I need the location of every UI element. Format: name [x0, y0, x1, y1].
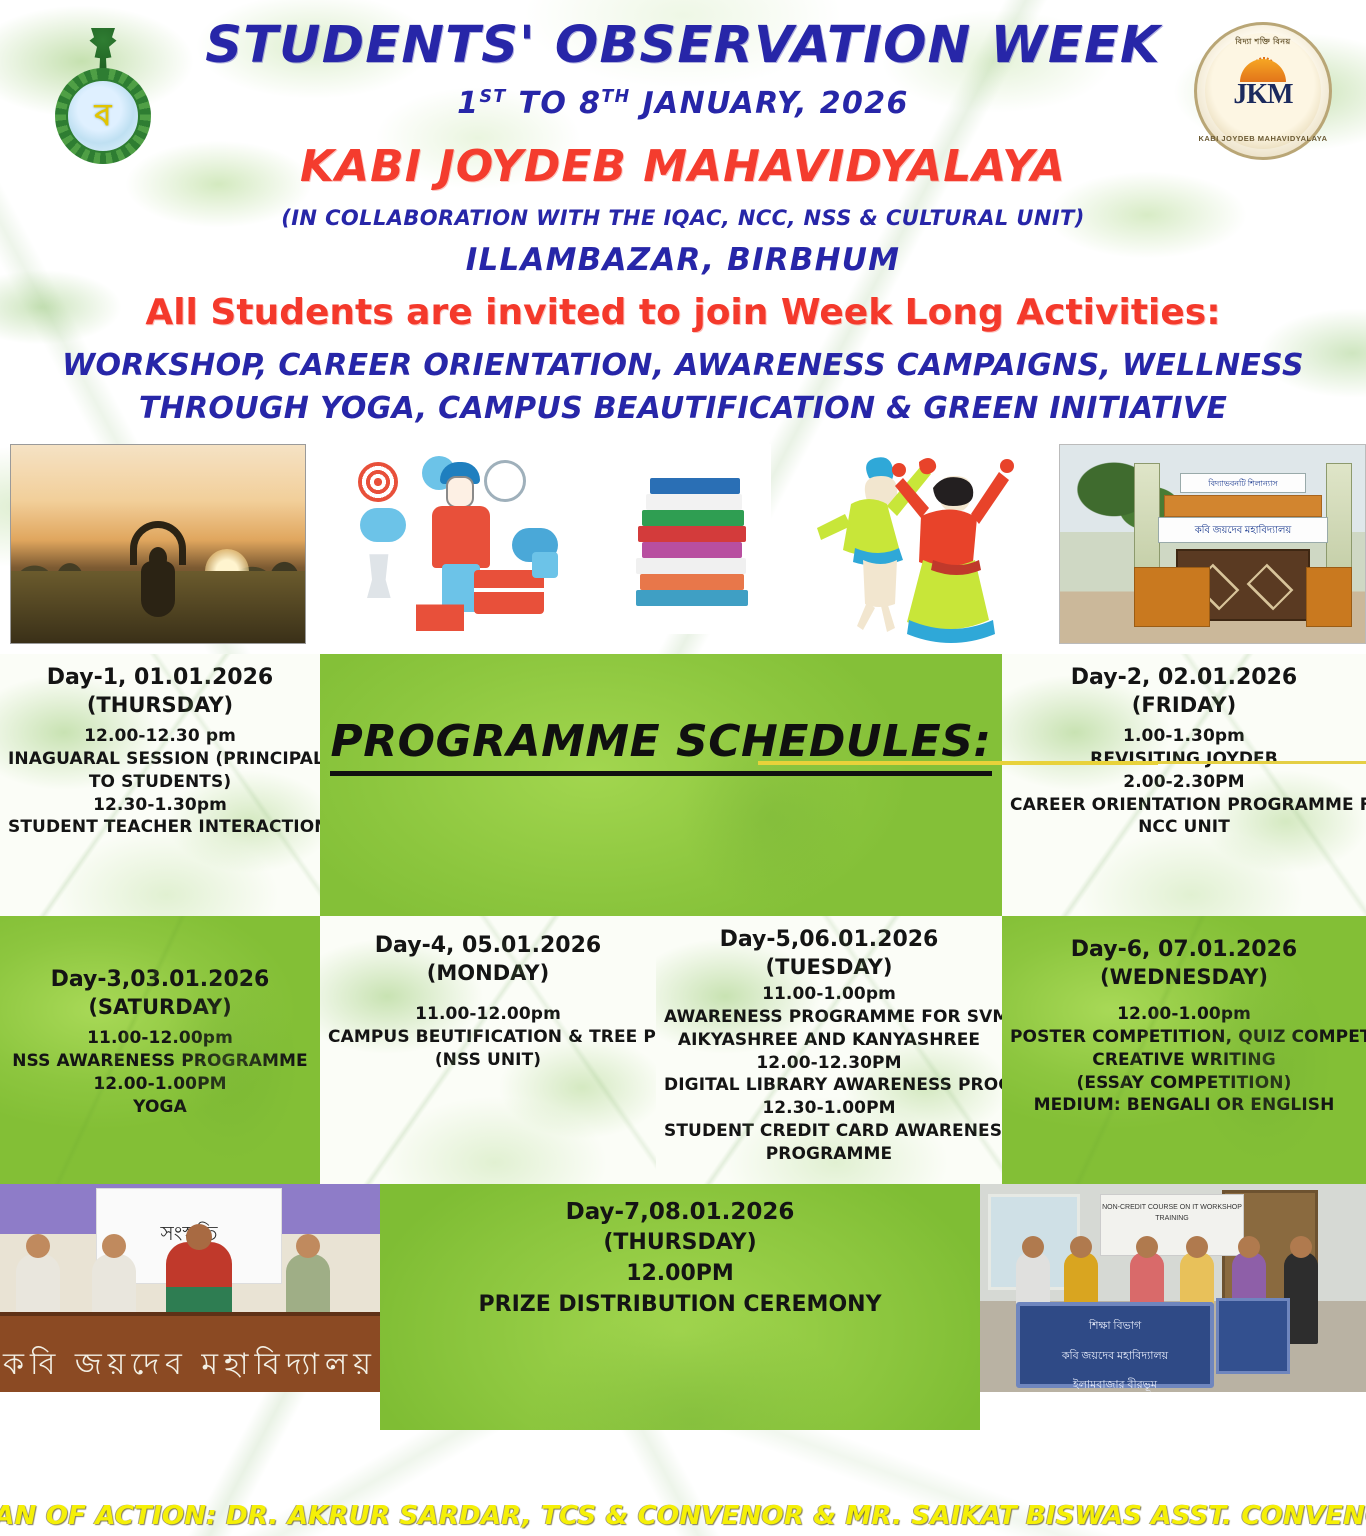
event-dates-day1: 1 — [457, 86, 479, 121]
day-details: 12.00PM PRIZE DISTRIBUTION CEREMONY — [479, 1258, 882, 1320]
day-detail-line: NSS AWARENESS PROGRAMME — [8, 1050, 312, 1073]
yellow-divider-line — [758, 761, 1158, 765]
event-dates-sup2: TH — [601, 87, 630, 107]
day-detail-line: 12.00-12.30 pm — [8, 725, 312, 748]
day-detail-line: 12.30-1.00PM — [664, 1097, 994, 1120]
day-weekday: (MONDAY) — [328, 960, 648, 987]
day-detail-line: (ESSAY COMPETITION) — [1010, 1072, 1358, 1095]
day-detail-line: CREATIVE WRITING — [1010, 1049, 1358, 1072]
bar-chart-icon — [416, 587, 464, 631]
day-detail-line: AWARENESS PROGRAMME FOR SVMCM — [664, 1006, 994, 1029]
day-detail-line: INAGUARAL SESSION (PRINCIPAL'S MESSAGE — [8, 748, 312, 771]
schedule-cell-day-1: Day-1, 01.01.2026 (THURSDAY) 12.00-12.30… — [0, 654, 320, 916]
invitation-line: All Students are invited to join Week Lo… — [0, 292, 1366, 333]
event-dates-mid: TO 8 — [507, 86, 602, 121]
day-detail-line: MEDIUM: BENGALI OR ENGLISH — [1010, 1094, 1358, 1117]
gate-wall-right — [1306, 567, 1352, 627]
folk-dancers-illustration — [811, 444, 1021, 644]
cloth-line-2: কবি জয়দেব মহাবিদ্যালয় — [1020, 1348, 1210, 1366]
gate-arch: বিদ্যাভবনটি শিলান্যাস কবি জয়দেব মহাবিদ্… — [1134, 463, 1352, 623]
seminar-dais-photo: সংস্কৃতি কবি জয়দেব মহাবিদ্যালয় — [0, 1184, 380, 1392]
day-detail-line: 12.00-12.30PM — [664, 1052, 994, 1075]
day-title: Day-7,08.01.2026 — [479, 1198, 882, 1228]
activities-line-2: THROUGH YOGA, CAMPUS BEAUTIFICATION & GR… — [0, 388, 1366, 431]
batik-cloth-right — [1216, 1298, 1290, 1374]
day-detail-line: CAMPUS BEUTIFICATION & TREE PLANTATION — [328, 1026, 648, 1049]
seated-person — [92, 1254, 136, 1314]
day-details: 12.00-1.00pm POSTER COMPETITION, QUIZ CO… — [1010, 1003, 1358, 1117]
day-details: 11.00-1.00pm AWARENESS PROGRAMME FOR SVM… — [664, 983, 994, 1165]
kabi-joydeb-mahavidyalaya-logo-icon: বিদ্যা শক্তি বিনয় JKM KABI JOYDEB MAHAV… — [1188, 22, 1338, 172]
schedule-cell-day-7: Day-7,08.01.2026 (THURSDAY) 12.00PM PRIZ… — [380, 1184, 980, 1430]
seated-person — [286, 1254, 330, 1314]
day-detail-line: REVISITING JOYDEB — [1010, 748, 1358, 771]
college-name: KABI JOYDEB MAHAVIDYALAYA — [0, 141, 1366, 192]
day-title: Day-4, 05.01.2026 — [328, 932, 648, 960]
student-figure — [1130, 1252, 1164, 1306]
career-orientation-illustration — [334, 444, 594, 639]
day-detail-line: DIGITAL LIBRARY AWARENESS PROGRAMME — [664, 1074, 994, 1097]
students-group-photo: NON-CREDIT COURSE ON IT WORKSHOP TRAININ… — [980, 1184, 1366, 1392]
day-details: 11.00-12.00pm NSS AWARENESS PROGRAMME 12… — [8, 1027, 312, 1118]
day-details: 1.00-1.30pm REVISITING JOYDEB 2.00-2.30P… — [1010, 725, 1358, 839]
workshop-banner-text: NON-CREDIT COURSE ON IT WORKSHOP TRAININ… — [1101, 1203, 1243, 1224]
gate-carved-panel — [1164, 495, 1322, 517]
day-detail-line: 12.00-1.00PM — [8, 1073, 312, 1096]
cloth-line-1: শিক্ষা বিভাগ — [1020, 1318, 1210, 1336]
dancers-svg — [811, 444, 1021, 644]
workshop-banner: NON-CREDIT COURSE ON IT WORKSHOP TRAININ… — [1100, 1194, 1244, 1256]
schedule-cell-day-6: Day-6, 07.01.2026 (WEDNESDAY) 12.00-1.00… — [1002, 916, 1366, 1184]
day-detail-line: PRIZE DISTRIBUTION CEREMONY — [479, 1289, 882, 1320]
schedule-cell-day-4: Day-4, 05.01.2026 (MONDAY) 11.00-12.00pm… — [320, 916, 656, 1184]
day-details: 12.00-12.30 pm INAGUARAL SESSION (PRINCI… — [8, 725, 312, 839]
day-detail-line: 12.00PM — [479, 1258, 882, 1289]
day-detail-line: NCC UNIT — [1010, 816, 1358, 839]
day-detail-line: 12.30-1.30pm — [8, 794, 312, 817]
cloth-line-3: ইলামবাজার বীরভূম — [1020, 1377, 1210, 1392]
day-title: Day-1, 01.01.2026 — [8, 664, 312, 692]
department-banner-cloth: শিক্ষা বিভাগ কবি জয়দেব মহাবিদ্যালয় ইলা… — [1016, 1302, 1214, 1388]
ashoka-pillar-icon — [88, 28, 118, 70]
logo-monogram: JKM — [1233, 79, 1292, 111]
student-figure — [1180, 1252, 1214, 1306]
gate-sign-top: বিদ্যাভবনটি শিলান্যাস — [1180, 473, 1306, 493]
event-dates-sup1: ST — [479, 87, 506, 107]
footer-strip: PLAN OF ACTION: DR. AKRUR SARDAR, TCS & … — [0, 1496, 1366, 1536]
dais-desk: কবি জয়দেব মহাবিদ্যালয় — [0, 1312, 380, 1392]
trophy-icon — [362, 554, 396, 598]
logo-arc-bottom-text: KABI JOYDEB MAHAVIDYALAYA — [1197, 134, 1329, 143]
bottom-section: সংস্কৃতি কবি জয়দেব মহাবিদ্যালয় Day-7,0… — [0, 1184, 1366, 1430]
day-title: Day-5,06.01.2026 — [664, 926, 994, 954]
collaboration-line: (IN COLLABORATION WITH THE IQAC, NCC, NS… — [0, 206, 1366, 230]
schedule-cell-day-5: Day-5,06.01.2026 (TUESDAY) 11.00-1.00pm … — [656, 916, 1002, 1184]
programme-schedules-title: PROGRAMME SCHEDULES: — [330, 716, 991, 776]
event-dates: 1ST TO 8TH JANUARY, 2026 — [0, 86, 1366, 121]
day-title: Day-2, 02.01.2026 — [1010, 664, 1358, 692]
event-dates-suffix: JANUARY, 2026 — [631, 86, 909, 121]
day-detail-line: YOGA — [8, 1096, 312, 1119]
day-weekday: (THURSDAY) — [479, 1228, 882, 1258]
day-detail-line: STUDENT CREDIT CARD AWARENESS — [664, 1120, 994, 1143]
day-weekday: (THURSDAY) — [8, 692, 312, 719]
speech-bubble-icon — [360, 508, 406, 542]
day-detail-line: 11.00-1.00pm — [664, 983, 994, 1006]
schedule-cell-day-2: Day-2, 02.01.2026 (FRIDAY) 1.00-1.30pm R… — [1002, 654, 1366, 916]
programme-schedules-banner: PROGRAMME SCHEDULES: — [320, 654, 1002, 916]
day-weekday: (WEDNESDAY) — [1010, 964, 1358, 991]
emblem-center-glyph: ব — [66, 79, 140, 153]
day-detail-line: 11.00-12.00pm — [328, 1003, 648, 1026]
day-detail-line: (NSS UNIT) — [328, 1049, 648, 1072]
books-photo — [622, 444, 771, 634]
college-gate-photo: বিদ্যাভবনটি শিলান্যাস কবি জয়দেব মহাবিদ্… — [1059, 444, 1366, 644]
day-details: 11.00-12.00pm CAMPUS BEUTIFICATION & TRE… — [328, 1003, 648, 1071]
programme-schedule-grid: Day-1, 01.01.2026 (THURSDAY) 12.00-12.30… — [0, 654, 1366, 1184]
yellow-divider-line-right — [1158, 761, 1366, 764]
day-weekday: (TUESDAY) — [664, 954, 994, 981]
day-detail-line: CAREER ORIENTATION PROGRAMME FROM — [1010, 794, 1358, 817]
location-line: ILLAMBAZAR, BIRBHUM — [0, 242, 1366, 278]
day-weekday: (FRIDAY) — [1010, 692, 1358, 719]
schedule-cell-day-3: Day-3,03.01.2026 (SATURDAY) 11.00-12.00p… — [0, 916, 320, 1184]
dais-desk-text: কবি জয়দেব মহাবিদ্যালয় — [0, 1340, 380, 1391]
yoga-photo — [10, 444, 306, 644]
poster-root: ব বিদ্যা শক্তি বিনয় JKM KABI JOYDEB MAH… — [0, 0, 1366, 1536]
day-detail-line: 11.00-12.00pm — [8, 1027, 312, 1050]
day-detail-line: 1.00-1.30pm — [1010, 725, 1358, 748]
yoga-figure-icon — [127, 521, 189, 617]
day-detail-line: POSTER COMPETITION, QUIZ COMPETITION, — [1010, 1026, 1358, 1049]
photo-strip: বিদ্যাভবনটি শিলান্যাস কবি জয়দেব মহাবিদ্… — [0, 444, 1366, 654]
day-detail-line: 2.00-2.30PM — [1010, 771, 1358, 794]
seated-person — [16, 1254, 60, 1314]
schedule-row-1: Day-1, 01.01.2026 (THURSDAY) 12.00-12.30… — [0, 654, 1366, 916]
gate-wall-left — [1134, 567, 1210, 627]
emblem-ring: ব — [55, 68, 151, 164]
plan-of-action-text: PLAN OF ACTION: DR. AKRUR SARDAR, TCS & … — [0, 1501, 1366, 1531]
day-detail-line: PROGRAMME — [664, 1143, 994, 1166]
page-title: STUDENTS' OBSERVATION WEEK — [0, 20, 1366, 72]
day-title: Day-6, 07.01.2026 — [1010, 936, 1358, 964]
puzzle-piece-icon — [532, 552, 558, 578]
day-detail-line: 12.00-1.00pm — [1010, 1003, 1358, 1026]
day-weekday: (SATURDAY) — [8, 994, 312, 1021]
student-figure — [1064, 1252, 1098, 1306]
govt-of-west-bengal-emblem-icon: ব — [33, 22, 173, 182]
poster-header: ব বিদ্যা শক্তি বিনয় JKM KABI JOYDEB MAH… — [0, 0, 1366, 430]
day-detail-line: AIKYASHREE AND KANYASHREE — [664, 1029, 994, 1052]
day-detail-line: TO STUDENTS) — [8, 771, 312, 794]
activities-line-1: WORKSHOP, CAREER ORIENTATION, AWARENESS … — [0, 345, 1366, 388]
student-figure — [1016, 1252, 1050, 1306]
day-detail-line: STUDENT TEACHER INTERACTION — [8, 816, 312, 839]
day-title: Day-3,03.01.2026 — [8, 966, 312, 994]
schedule-row-2: Day-3,03.01.2026 (SATURDAY) 11.00-12.00p… — [0, 916, 1366, 1184]
target-icon — [358, 462, 398, 502]
gate-sign-main: কবি জয়দেব মহাবিদ্যালয় — [1158, 517, 1328, 543]
activities-list: WORKSHOP, CAREER ORIENTATION, AWARENESS … — [0, 345, 1366, 430]
